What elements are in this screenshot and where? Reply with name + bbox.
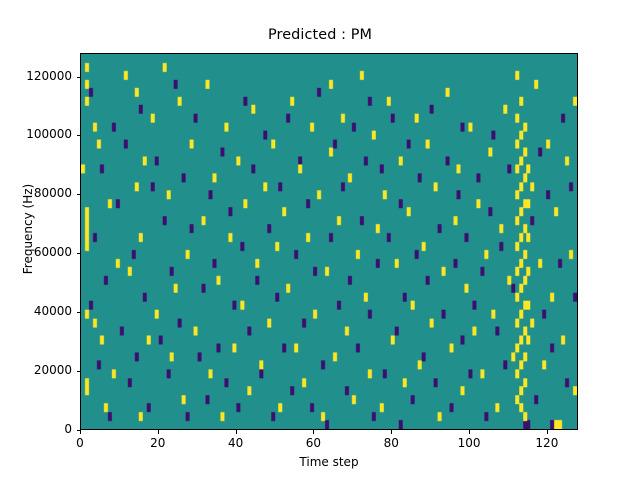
y-tick-label: 100000	[0, 127, 72, 141]
x-tick-mark	[236, 430, 237, 434]
x-tick-mark	[80, 430, 81, 434]
y-tick-label: 40000	[0, 304, 72, 318]
y-axis-label: Frequency (Hz)	[21, 29, 35, 429]
x-tick-label: 120	[517, 436, 577, 450]
y-tick-mark	[77, 371, 81, 372]
y-tick-label: 0	[0, 422, 72, 436]
x-tick-mark	[469, 430, 470, 434]
x-tick-label: 20	[128, 436, 188, 450]
x-tick-label: 0	[50, 436, 110, 450]
x-axis-label: Time step	[80, 455, 578, 469]
heatmap-image	[81, 54, 577, 429]
y-tick-mark	[77, 194, 81, 195]
x-tick-mark	[547, 430, 548, 434]
y-tick-label: 120000	[0, 69, 72, 83]
x-tick-mark	[158, 430, 159, 434]
y-tick-mark	[77, 253, 81, 254]
heatmap-axes	[80, 53, 578, 430]
y-tick-label: 80000	[0, 186, 72, 200]
x-tick-mark	[391, 430, 392, 434]
x-tick-label: 40	[206, 436, 266, 450]
y-tick-mark	[77, 312, 81, 313]
figure-canvas: Predicted : PM 020406080100120 020000400…	[0, 0, 640, 480]
y-tick-mark	[77, 430, 81, 431]
y-tick-label: 20000	[0, 363, 72, 377]
chart-title: Predicted : PM	[0, 27, 640, 43]
x-tick-label: 80	[361, 436, 421, 450]
y-tick-mark	[77, 77, 81, 78]
x-tick-label: 100	[439, 436, 499, 450]
y-tick-label: 60000	[0, 245, 72, 259]
x-tick-label: 60	[283, 436, 343, 450]
y-tick-mark	[77, 135, 81, 136]
x-tick-mark	[313, 430, 314, 434]
